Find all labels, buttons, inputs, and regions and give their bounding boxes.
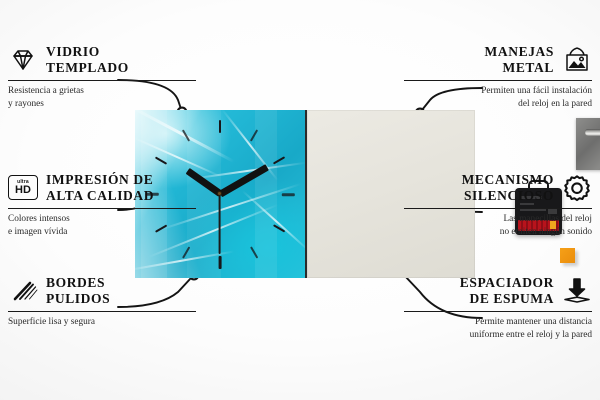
clock-tick: [219, 256, 222, 269]
feature-impresion-alta-calidad[interactable]: ultra HD IMPRESIÓN DEALTA CALIDAD Colore…: [8, 172, 196, 239]
feature-heading: VIDRIOTEMPLADO: [8, 44, 196, 76]
feature-description: Colores intensose imagen vívida: [8, 213, 196, 238]
divider: [8, 80, 196, 82]
feature-description: Las manecillas del relojno emiten ningún…: [404, 213, 592, 238]
feature-title: MANEJASMETAL: [485, 44, 554, 76]
divider: [404, 311, 592, 313]
feature-title: IMPRESIÓN DEALTA CALIDAD: [46, 172, 154, 204]
feature-heading: ESPACIADORDE ESPUMA: [404, 275, 592, 307]
clock-second-hand: [219, 194, 221, 254]
feature-heading: BORDESPULIDOS: [8, 275, 196, 307]
feature-heading: MECANISMOSILENCIOSO: [404, 172, 592, 204]
feature-vidrio-templado[interactable]: VIDRIOTEMPLADO Resistencia a grietasy ra…: [8, 44, 196, 111]
feature-title: ESPACIADORDE ESPUMA: [460, 275, 554, 307]
divider: [404, 80, 592, 82]
gear-icon: [562, 173, 592, 203]
picture-frame-hanger-icon: [562, 45, 592, 75]
feature-heading: MANEJASMETAL: [404, 44, 592, 76]
feature-bordes-pulidos[interactable]: BORDESPULIDOS Superficie lisa y segura: [8, 275, 196, 329]
foam-spacer: [560, 248, 575, 263]
divider: [8, 311, 196, 313]
metal-hanger-plate: [576, 118, 600, 170]
clock-center-hub: [217, 191, 222, 196]
infographic-canvas: VIDRIOTEMPLADO Resistencia a grietasy ra…: [0, 0, 600, 400]
clock-tick: [281, 193, 294, 196]
feature-title: BORDESPULIDOS: [46, 275, 110, 307]
feature-description: Permiten una fácil instalacióndel reloj …: [404, 85, 592, 110]
feature-mecanismo-silencioso[interactable]: MECANISMOSILENCIOSO Las manecillas del r…: [404, 172, 592, 239]
feature-manejas-metal[interactable]: MANEJASMETAL Permiten una fácil instalac…: [404, 44, 592, 111]
ultra-hd-icon: ultra HD: [8, 173, 38, 203]
feature-description: Superficie lisa y segura: [8, 316, 196, 329]
down-arrow-spacer-icon: [562, 276, 592, 306]
clock-tick: [219, 120, 222, 133]
feature-description: Resistencia a grietasy rayones: [8, 85, 196, 110]
divider: [404, 208, 592, 210]
feature-description: Permite mantener una distanciauniforme e…: [404, 316, 592, 341]
feature-title: VIDRIOTEMPLADO: [46, 44, 129, 76]
feature-title: MECANISMOSILENCIOSO: [462, 172, 554, 204]
diamond-icon: [8, 45, 38, 75]
feature-espaciador-espuma[interactable]: ESPACIADORDE ESPUMA Permite mantener una…: [404, 275, 592, 342]
polished-edges-icon: [8, 276, 38, 306]
feature-heading: ultra HD IMPRESIÓN DEALTA CALIDAD: [8, 172, 196, 204]
divider: [8, 208, 196, 210]
